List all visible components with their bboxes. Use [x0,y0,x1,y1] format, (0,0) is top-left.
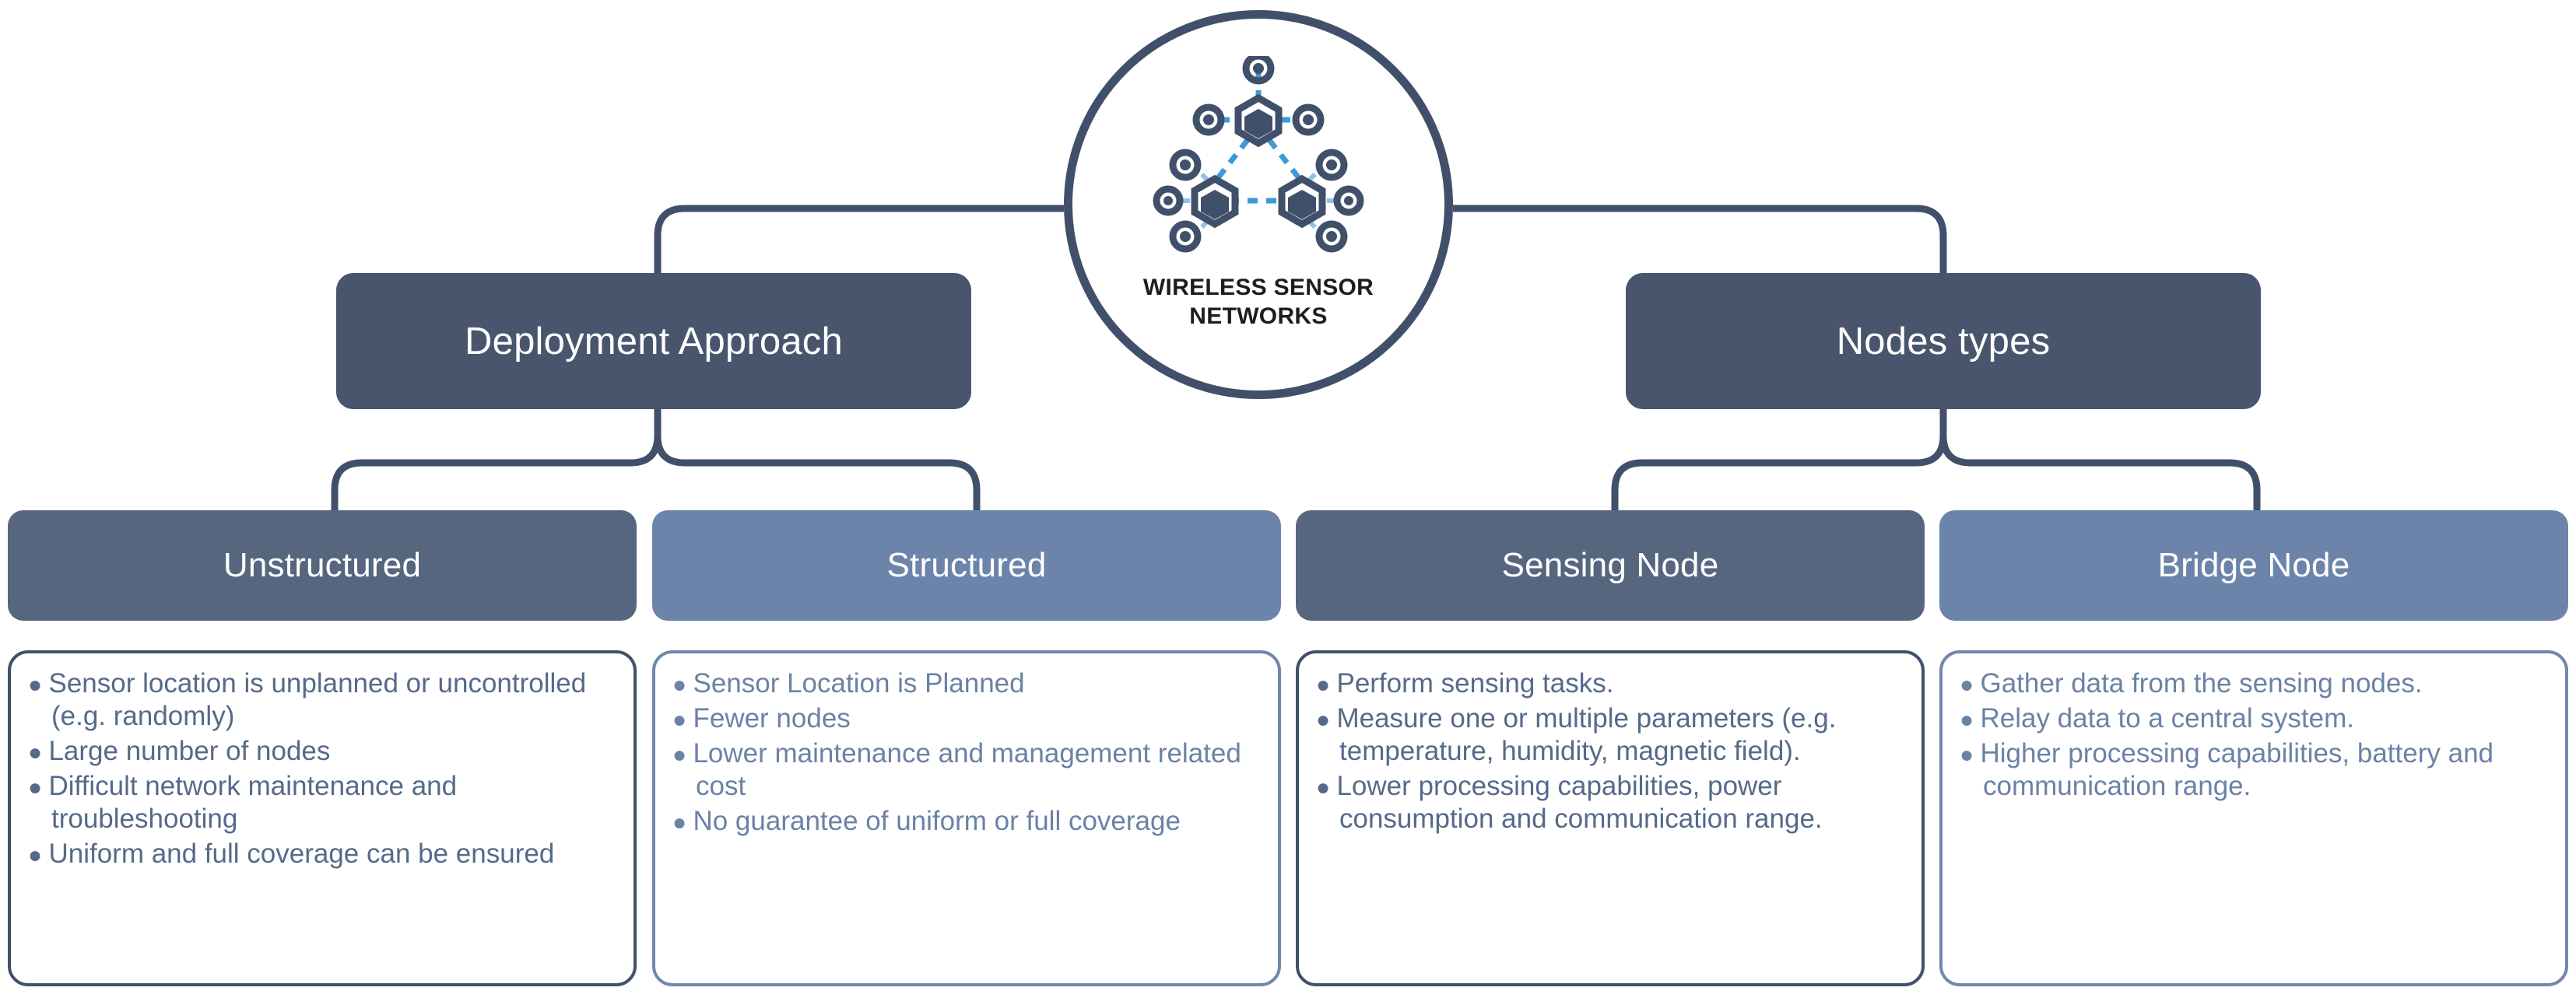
bullet-text: Perform sensing tasks. [1336,668,1613,699]
bullet-item: ● Gather data from the sensing nodes. [1960,667,2548,700]
bullet-icon: ● [1316,707,1336,733]
bullet-text: Difficult network maintenance and troubl… [48,771,457,834]
bullet-list: ● Sensor Location is Planned● Fewer node… [672,667,1261,838]
branch-deployment-approach[interactable]: Deployment Approach [336,273,971,409]
category-header-structured[interactable]: Structured [652,510,1281,621]
hub-label-line-2: NETWORKS [1143,303,1374,331]
connector-right-to-sensing [1615,409,1943,510]
bullet-item: ● Difficult network maintenance and trou… [28,770,616,835]
bullet-text: Relay data to a central system. [1980,703,2354,734]
bullet-list: ● Perform sensing tasks.● Measure one or… [1316,667,1904,835]
bullet-text: Gather data from the sensing nodes. [1980,668,2422,699]
bullet-text: Large number of nodes [48,736,330,766]
wsn-taxonomy-diagram: WIRELESS SENSOR NETWORKS Deployment Appr… [0,0,2576,1005]
bullet-text: Fewer nodes [693,703,850,734]
category-header-sensing-node[interactable]: Sensing Node [1296,510,1925,621]
category-label: Structured [887,546,1047,585]
bullet-icon: ● [1960,672,1980,698]
bullet-list: ● Sensor location is unplanned or uncont… [28,667,616,870]
bullet-icon: ● [1960,707,1980,733]
bullet-text: No guarantee of uniform or full coverage [693,806,1180,836]
bullet-item: ● Large number of nodes [28,735,616,768]
bullet-item: ● Lower processing capabilities, power c… [1316,770,1904,835]
details-bridge-node: ● Gather data from the sensing nodes.● R… [1939,650,2568,986]
bullet-item: ● Lower maintenance and management relat… [672,737,1261,803]
bullet-icon: ● [1316,775,1336,800]
central-hub: WIRELESS SENSOR NETWORKS [1064,10,1453,399]
bullet-item: ● Perform sensing tasks. [1316,667,1904,700]
category-label: Bridge Node [2158,546,2350,585]
branch-nodes-types[interactable]: Nodes types [1626,273,2261,409]
connector-left-to-structured [658,409,977,510]
bullet-item: ● Measure one or multiple parameters (e.… [1316,702,1904,768]
bullet-icon: ● [28,672,48,698]
bullet-icon: ● [672,707,693,733]
bullet-item: ● Relay data to a central system. [1960,702,2548,735]
connector-left-to-unstructured [335,409,658,510]
connector-right-to-bridge [1943,409,2257,510]
details-unstructured: ● Sensor location is unplanned or uncont… [8,650,637,986]
bullet-icon: ● [672,672,693,698]
hub-label-line-1: WIRELESS SENSOR [1143,274,1374,303]
bullet-item: ● Fewer nodes [672,702,1261,735]
connector-hub-to-left [658,208,1064,273]
branch-label: Nodes types [1837,320,2051,363]
bullet-icon: ● [28,775,48,800]
bullet-item: ● Uniform and full coverage can be ensur… [28,838,616,870]
category-header-unstructured[interactable]: Unstructured [8,510,637,621]
bullet-item: ● No guarantee of uniform or full covera… [672,805,1261,838]
bullet-icon: ● [672,742,693,768]
bullet-item: ● Higher processing capabilities, batter… [1960,737,2548,803]
bullet-item: ● Sensor Location is Planned [672,667,1261,700]
bullet-icon: ● [672,810,693,835]
bullet-icon: ● [28,740,48,765]
bullet-icon: ● [1960,742,1980,768]
details-sensing-node: ● Perform sensing tasks.● Measure one or… [1296,650,1925,986]
branch-label: Deployment Approach [465,320,843,363]
bullet-text: Higher processing capabilities, battery … [1980,738,2494,801]
bullet-list: ● Gather data from the sensing nodes.● R… [1960,667,2548,803]
details-structured: ● Sensor Location is Planned● Fewer node… [652,650,1281,986]
bullet-text: Uniform and full coverage can be ensured [48,839,554,869]
category-label: Unstructured [223,546,421,585]
bullet-icon: ● [28,842,48,868]
hub-label: WIRELESS SENSOR NETWORKS [1143,274,1374,331]
bullet-text: Lower maintenance and management related… [693,738,1241,801]
bullet-text: Sensor location is unplanned or uncontro… [48,668,586,731]
category-label: Sensing Node [1502,546,1719,585]
bullet-icon: ● [1316,672,1336,698]
category-header-bridge-node[interactable]: Bridge Node [1939,510,2568,621]
bullet-text: Lower processing capabilities, power con… [1336,771,1822,834]
connector-hub-to-right [1453,208,1943,273]
bullet-text: Measure one or multiple parameters (e.g.… [1336,703,1836,766]
bullet-item: ● Sensor location is unplanned or uncont… [28,667,616,733]
bullet-text: Sensor Location is Planned [693,668,1024,699]
wireless-sensor-network-icon [1134,56,1383,266]
